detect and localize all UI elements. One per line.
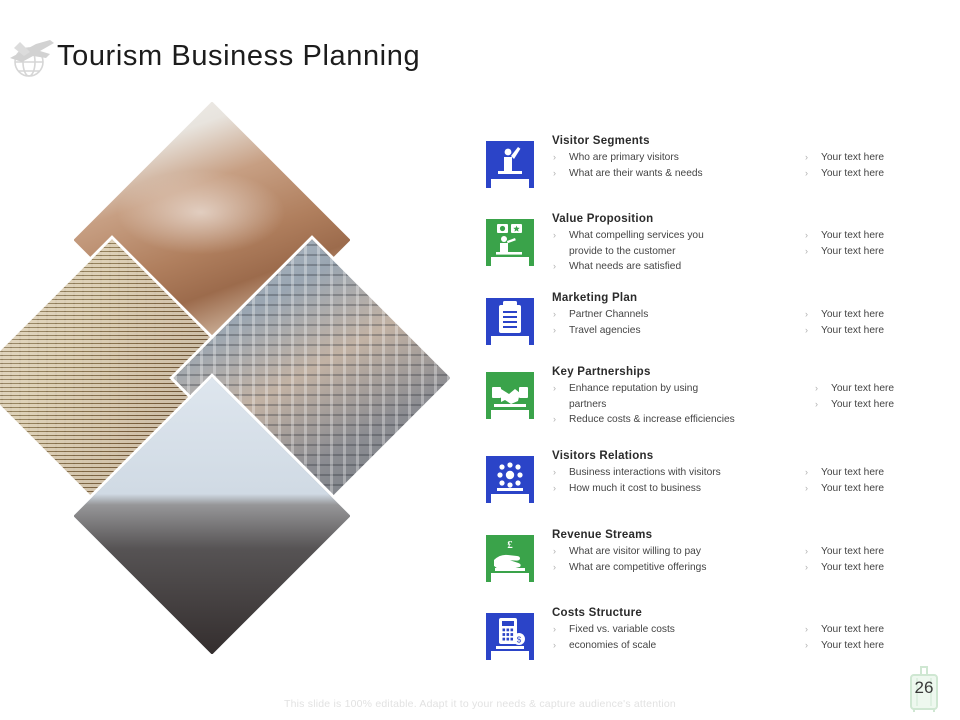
bullet-item[interactable]: ›Your text here: [804, 244, 954, 260]
bullet-column: ›Your text here›Your text here: [804, 544, 954, 575]
bullet-text: Your text here: [821, 168, 884, 179]
presenter-board-icon: [484, 218, 536, 270]
bullet-item[interactable]: ›What compelling services you: [552, 228, 762, 244]
bullet-item[interactable]: ›What are visitor willing to pay: [552, 544, 762, 560]
section-title: Visitor Segments: [552, 135, 950, 147]
bullet-text: What are their wants & needs: [569, 168, 703, 179]
bullet-item[interactable]: ›Your text here: [804, 150, 954, 166]
bullet-item[interactable]: ›Reduce costs & increase efficiencies: [552, 412, 762, 428]
bullet-text: Your text here: [821, 246, 884, 257]
page-title: Tourism Business Planning: [57, 40, 420, 73]
bullet-item[interactable]: ›What are their wants & needs: [552, 166, 762, 182]
bullet-item[interactable]: ›Your text here: [814, 397, 960, 413]
bullet-column: ›Your text here›Your text here: [814, 381, 960, 412]
bullet-columns: ›Fixed vs. variable costs›economies of s…: [552, 622, 950, 653]
bullet-text: Your text here: [821, 624, 884, 635]
footer-note: This slide is 100% editable. Adapt it to…: [0, 698, 960, 710]
bullet-text: Your text here: [821, 309, 884, 320]
chevron-right-icon: ›: [805, 228, 808, 244]
chevron-right-icon: ›: [553, 166, 556, 182]
chevron-right-icon: ›: [553, 259, 556, 275]
bullet-item[interactable]: ›Business interactions with visitors: [552, 465, 762, 481]
bullet-text: Your text here: [821, 562, 884, 573]
bullet-text: What needs are satisfied: [569, 261, 681, 272]
bullet-columns: ›Business interactions with visitors›How…: [552, 465, 950, 496]
bullet-text: Your text here: [821, 152, 884, 163]
section-body: Visitor Segments›Who are primary visitor…: [552, 135, 950, 181]
section-title: Marketing Plan: [552, 292, 950, 304]
bullet-text: Who are primary visitors: [569, 152, 679, 163]
bullet-text: provide to the customer: [569, 246, 675, 257]
chevron-right-icon: ›: [553, 381, 556, 397]
bullet-item[interactable]: ›Your text here: [804, 465, 954, 481]
svg-text:$: $: [517, 635, 522, 644]
bullet-column: ›What compelling services youprovide to …: [552, 228, 762, 275]
page-number: 26: [902, 678, 946, 698]
bullet-text: Partner Channels: [569, 309, 648, 320]
bullet-text: Fixed vs. variable costs: [569, 624, 675, 635]
chevron-right-icon: ›: [805, 638, 808, 654]
bullet-column: ›Your text here›Your text here: [804, 307, 954, 338]
bullet-item[interactable]: ›How much it cost to business: [552, 481, 762, 497]
chevron-right-icon: ›: [553, 307, 556, 323]
bullet-columns: ›Enhance reputation by usingpartners›Red…: [552, 381, 950, 428]
bullet-text: Your text here: [821, 640, 884, 651]
bullet-text: economies of scale: [569, 640, 656, 651]
person-raising-hand-icon: [484, 140, 536, 192]
chevron-right-icon: ›: [805, 323, 808, 339]
bullet-item[interactable]: ›Travel agencies: [552, 323, 762, 339]
bullet-item[interactable]: ›economies of scale: [552, 638, 762, 654]
section-body: Value Proposition›What compelling servic…: [552, 213, 950, 275]
bullet-item[interactable]: ›Your text here: [814, 381, 960, 397]
bullet-columns: ›Who are primary visitors›What are their…: [552, 150, 950, 181]
bullet-text: Your text here: [821, 467, 884, 478]
bullet-text: Your text here: [831, 399, 894, 410]
bullet-item[interactable]: ›Enhance reputation by using: [552, 381, 762, 397]
chevron-right-icon: ›: [815, 397, 818, 413]
bullet-text: Your text here: [821, 483, 884, 494]
chevron-right-icon: ›: [553, 544, 556, 560]
chevron-right-icon: ›: [553, 465, 556, 481]
bullet-item[interactable]: ›Your text here: [804, 638, 954, 654]
network-nodes-icon: [484, 455, 536, 507]
bullet-item[interactable]: ›Who are primary visitors: [552, 150, 762, 166]
bullet-columns: ›What are visitor willing to pay›What ar…: [552, 544, 950, 575]
bullet-text: Your text here: [821, 546, 884, 557]
bullet-column: ›Your text here›Your text here: [804, 465, 954, 496]
chevron-right-icon: ›: [553, 622, 556, 638]
bullet-column: ›Your text here›Your text here: [804, 622, 954, 653]
chevron-right-icon: ›: [553, 323, 556, 339]
slide-header: Tourism Business Planning: [0, 0, 960, 108]
bullet-column: ›Partner Channels›Travel agencies: [552, 307, 762, 338]
photo-collage: [2, 132, 422, 580]
bullet-text: Your text here: [831, 383, 894, 394]
bullet-item[interactable]: ›Your text here: [804, 622, 954, 638]
bullet-column: ›Business interactions with visitors›How…: [552, 465, 762, 496]
chevron-right-icon: ›: [805, 622, 808, 638]
chevron-right-icon: ›: [805, 465, 808, 481]
bullet-column: ›Your text here›Your text here: [804, 150, 954, 181]
bullet-item[interactable]: ›Your text here: [804, 560, 954, 576]
handshake-icon: [484, 371, 536, 423]
chevron-right-icon: ›: [553, 638, 556, 654]
bullet-column: ›Enhance reputation by usingpartners›Red…: [552, 381, 762, 428]
bullet-text: What are visitor willing to pay: [569, 546, 701, 557]
bullet-item[interactable]: provide to the customer: [552, 244, 762, 260]
bullet-text: Business interactions with visitors: [569, 467, 721, 478]
chevron-right-icon: ›: [553, 560, 556, 576]
section-title: Visitors Relations: [552, 450, 950, 462]
bullet-columns: ›What compelling services youprovide to …: [552, 228, 950, 275]
chevron-right-icon: ›: [805, 307, 808, 323]
chevron-right-icon: ›: [553, 412, 556, 428]
section-body: Key Partnerships›Enhance reputation by u…: [552, 366, 950, 428]
globe-airplane-icon: [6, 34, 58, 84]
bullet-text: How much it cost to business: [569, 483, 701, 494]
bullet-item[interactable]: partners: [552, 397, 762, 413]
bullet-text: Your text here: [821, 325, 884, 336]
section-body: Costs Structure›Fixed vs. variable costs…: [552, 607, 950, 653]
bullet-item[interactable]: ›Your text here: [804, 323, 954, 339]
bullet-item[interactable]: ›Partner Channels: [552, 307, 762, 323]
bullet-text: Travel agencies: [569, 325, 641, 336]
bullet-item[interactable]: ›Your text here: [804, 544, 954, 560]
section-title: Value Proposition: [552, 213, 950, 225]
bullet-item[interactable]: ›Fixed vs. variable costs: [552, 622, 762, 638]
bullet-column: ›What are visitor willing to pay›What ar…: [552, 544, 762, 575]
bullet-item[interactable]: ›Your text here: [804, 481, 954, 497]
bullet-item[interactable]: ›What needs are satisfied: [552, 259, 762, 275]
page-number-badge: 26: [902, 664, 946, 714]
bullet-text: Reduce costs & increase efficiencies: [569, 414, 735, 425]
svg-text:£: £: [507, 539, 513, 551]
bullet-text: Enhance reputation by using: [569, 383, 698, 394]
calculator-coin-icon: $: [484, 612, 536, 664]
section-body: Revenue Streams›What are visitor willing…: [552, 529, 950, 575]
chevron-right-icon: ›: [553, 150, 556, 166]
bullet-text: What compelling services you: [569, 230, 704, 241]
bullet-item[interactable]: ›Your text here: [804, 166, 954, 182]
bullet-item[interactable]: ›Your text here: [804, 228, 954, 244]
clipboard-icon: [484, 297, 536, 349]
bullet-item[interactable]: ›Your text here: [804, 307, 954, 323]
chevron-right-icon: ›: [805, 244, 808, 260]
section-title: Key Partnerships: [552, 366, 950, 378]
section-body: Marketing Plan›Partner Channels›Travel a…: [552, 292, 950, 338]
section-body: Visitors Relations›Business interactions…: [552, 450, 950, 496]
bullet-columns: ›Partner Channels›Travel agencies›Your t…: [552, 307, 950, 338]
chevron-right-icon: ›: [815, 381, 818, 397]
chevron-right-icon: ›: [805, 166, 808, 182]
bullet-text: What are competitive offerings: [569, 562, 706, 573]
bullet-column: ›Fixed vs. variable costs›economies of s…: [552, 622, 762, 653]
section-title: Revenue Streams: [552, 529, 950, 541]
bullet-column: ›Who are primary visitors›What are their…: [552, 150, 762, 181]
chevron-right-icon: ›: [553, 481, 556, 497]
bullet-text: partners: [569, 399, 606, 410]
bullet-column: ›Your text here›Your text here: [804, 228, 954, 259]
chevron-right-icon: ›: [805, 150, 808, 166]
chevron-right-icon: ›: [805, 560, 808, 576]
bullet-item[interactable]: ›What are competitive offerings: [552, 560, 762, 576]
bullet-text: Your text here: [821, 230, 884, 241]
chevron-right-icon: ›: [805, 544, 808, 560]
chevron-right-icon: ›: [805, 481, 808, 497]
section-title: Costs Structure: [552, 607, 950, 619]
chevron-right-icon: ›: [553, 228, 556, 244]
hand-pound-icon: £: [484, 534, 536, 586]
